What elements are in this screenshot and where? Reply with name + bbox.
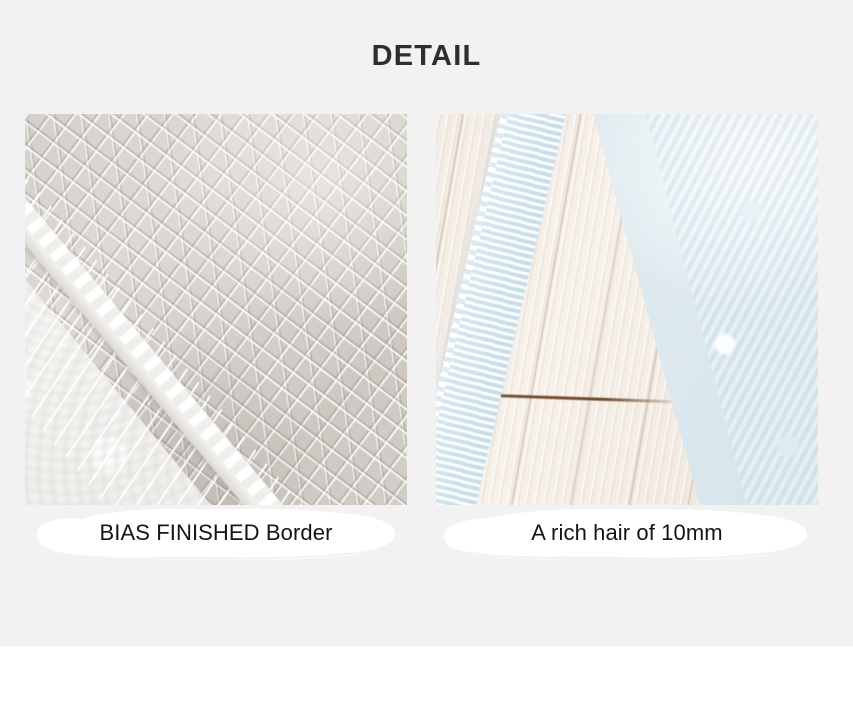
caption-label: BIAS FINISHED Border [25,506,407,560]
rug-pile-photo-inner [436,114,818,505]
rug-backing-photo [25,114,407,505]
rug-backing-photo-inner [25,114,407,505]
page-title: DETAIL [0,40,853,73]
caption-label: A rich hair of 10mm [436,506,818,560]
caption-rich-hair: A rich hair of 10mm [436,506,818,560]
caption-bias-finished-border: BIAS FINISHED Border [25,506,407,560]
rug-pile-photo [436,114,818,505]
detail-section: DETAIL [0,0,853,712]
